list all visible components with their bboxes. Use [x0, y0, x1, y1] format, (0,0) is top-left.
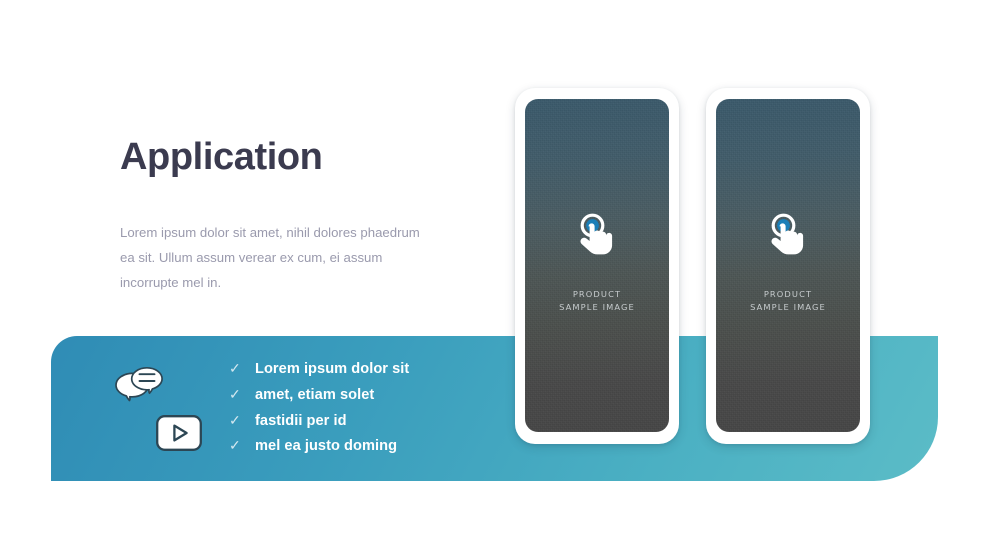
- phone-screen: PRODUCT SAMPLE IMAGE: [716, 99, 860, 432]
- list-item[interactable]: ✓ Lorem ipsum dolor sit: [229, 356, 409, 382]
- list-item[interactable]: ✓ fastidii per id: [229, 408, 409, 434]
- phone-screen-caption: PRODUCT SAMPLE IMAGE: [750, 288, 826, 313]
- check-icon: ✓: [229, 433, 255, 459]
- list-item-label: Lorem ipsum dolor sit: [255, 357, 409, 383]
- phone-mockup-2[interactable]: PRODUCT SAMPLE IMAGE: [706, 88, 870, 444]
- list-item-label: fastidii per id: [255, 409, 347, 435]
- caption-line-2: SAMPLE IMAGE: [750, 301, 826, 314]
- phone-screen-caption: PRODUCT SAMPLE IMAGE: [559, 288, 635, 313]
- list-item[interactable]: ✓ amet, etiam solet: [229, 382, 409, 408]
- chat-bubbles-icon: [113, 360, 165, 411]
- list-item[interactable]: ✓ mel ea justo doming: [229, 433, 409, 459]
- lead-paragraph: Lorem ipsum dolor sit amet, nihil dolore…: [120, 220, 420, 295]
- caption-line-2: SAMPLE IMAGE: [559, 301, 635, 314]
- phone-screen-content: PRODUCT SAMPLE IMAGE: [525, 213, 669, 313]
- slide-canvas: Application Lorem ipsum dolor sit amet, …: [0, 0, 988, 556]
- list-item-label: mel ea justo doming: [255, 434, 397, 460]
- phone-screen-content: PRODUCT SAMPLE IMAGE: [716, 213, 860, 313]
- check-icon: ✓: [229, 408, 255, 434]
- caption-line-1: PRODUCT: [559, 288, 635, 301]
- caption-line-1: PRODUCT: [750, 288, 826, 301]
- check-icon: ✓: [229, 382, 255, 408]
- check-icon: ✓: [229, 356, 255, 382]
- feature-bullet-list: ✓ Lorem ipsum dolor sit ✓ amet, etiam so…: [229, 356, 409, 459]
- tap-gesture-icon: [576, 213, 618, 268]
- video-play-icon: [155, 414, 203, 457]
- list-item-label: amet, etiam solet: [255, 383, 374, 409]
- banner-icon-group: [113, 352, 243, 467]
- phone-mockup-1[interactable]: PRODUCT SAMPLE IMAGE: [515, 88, 679, 444]
- tap-gesture-icon: [767, 213, 809, 268]
- phone-screen: PRODUCT SAMPLE IMAGE: [525, 99, 669, 432]
- page-title: Application: [120, 136, 323, 179]
